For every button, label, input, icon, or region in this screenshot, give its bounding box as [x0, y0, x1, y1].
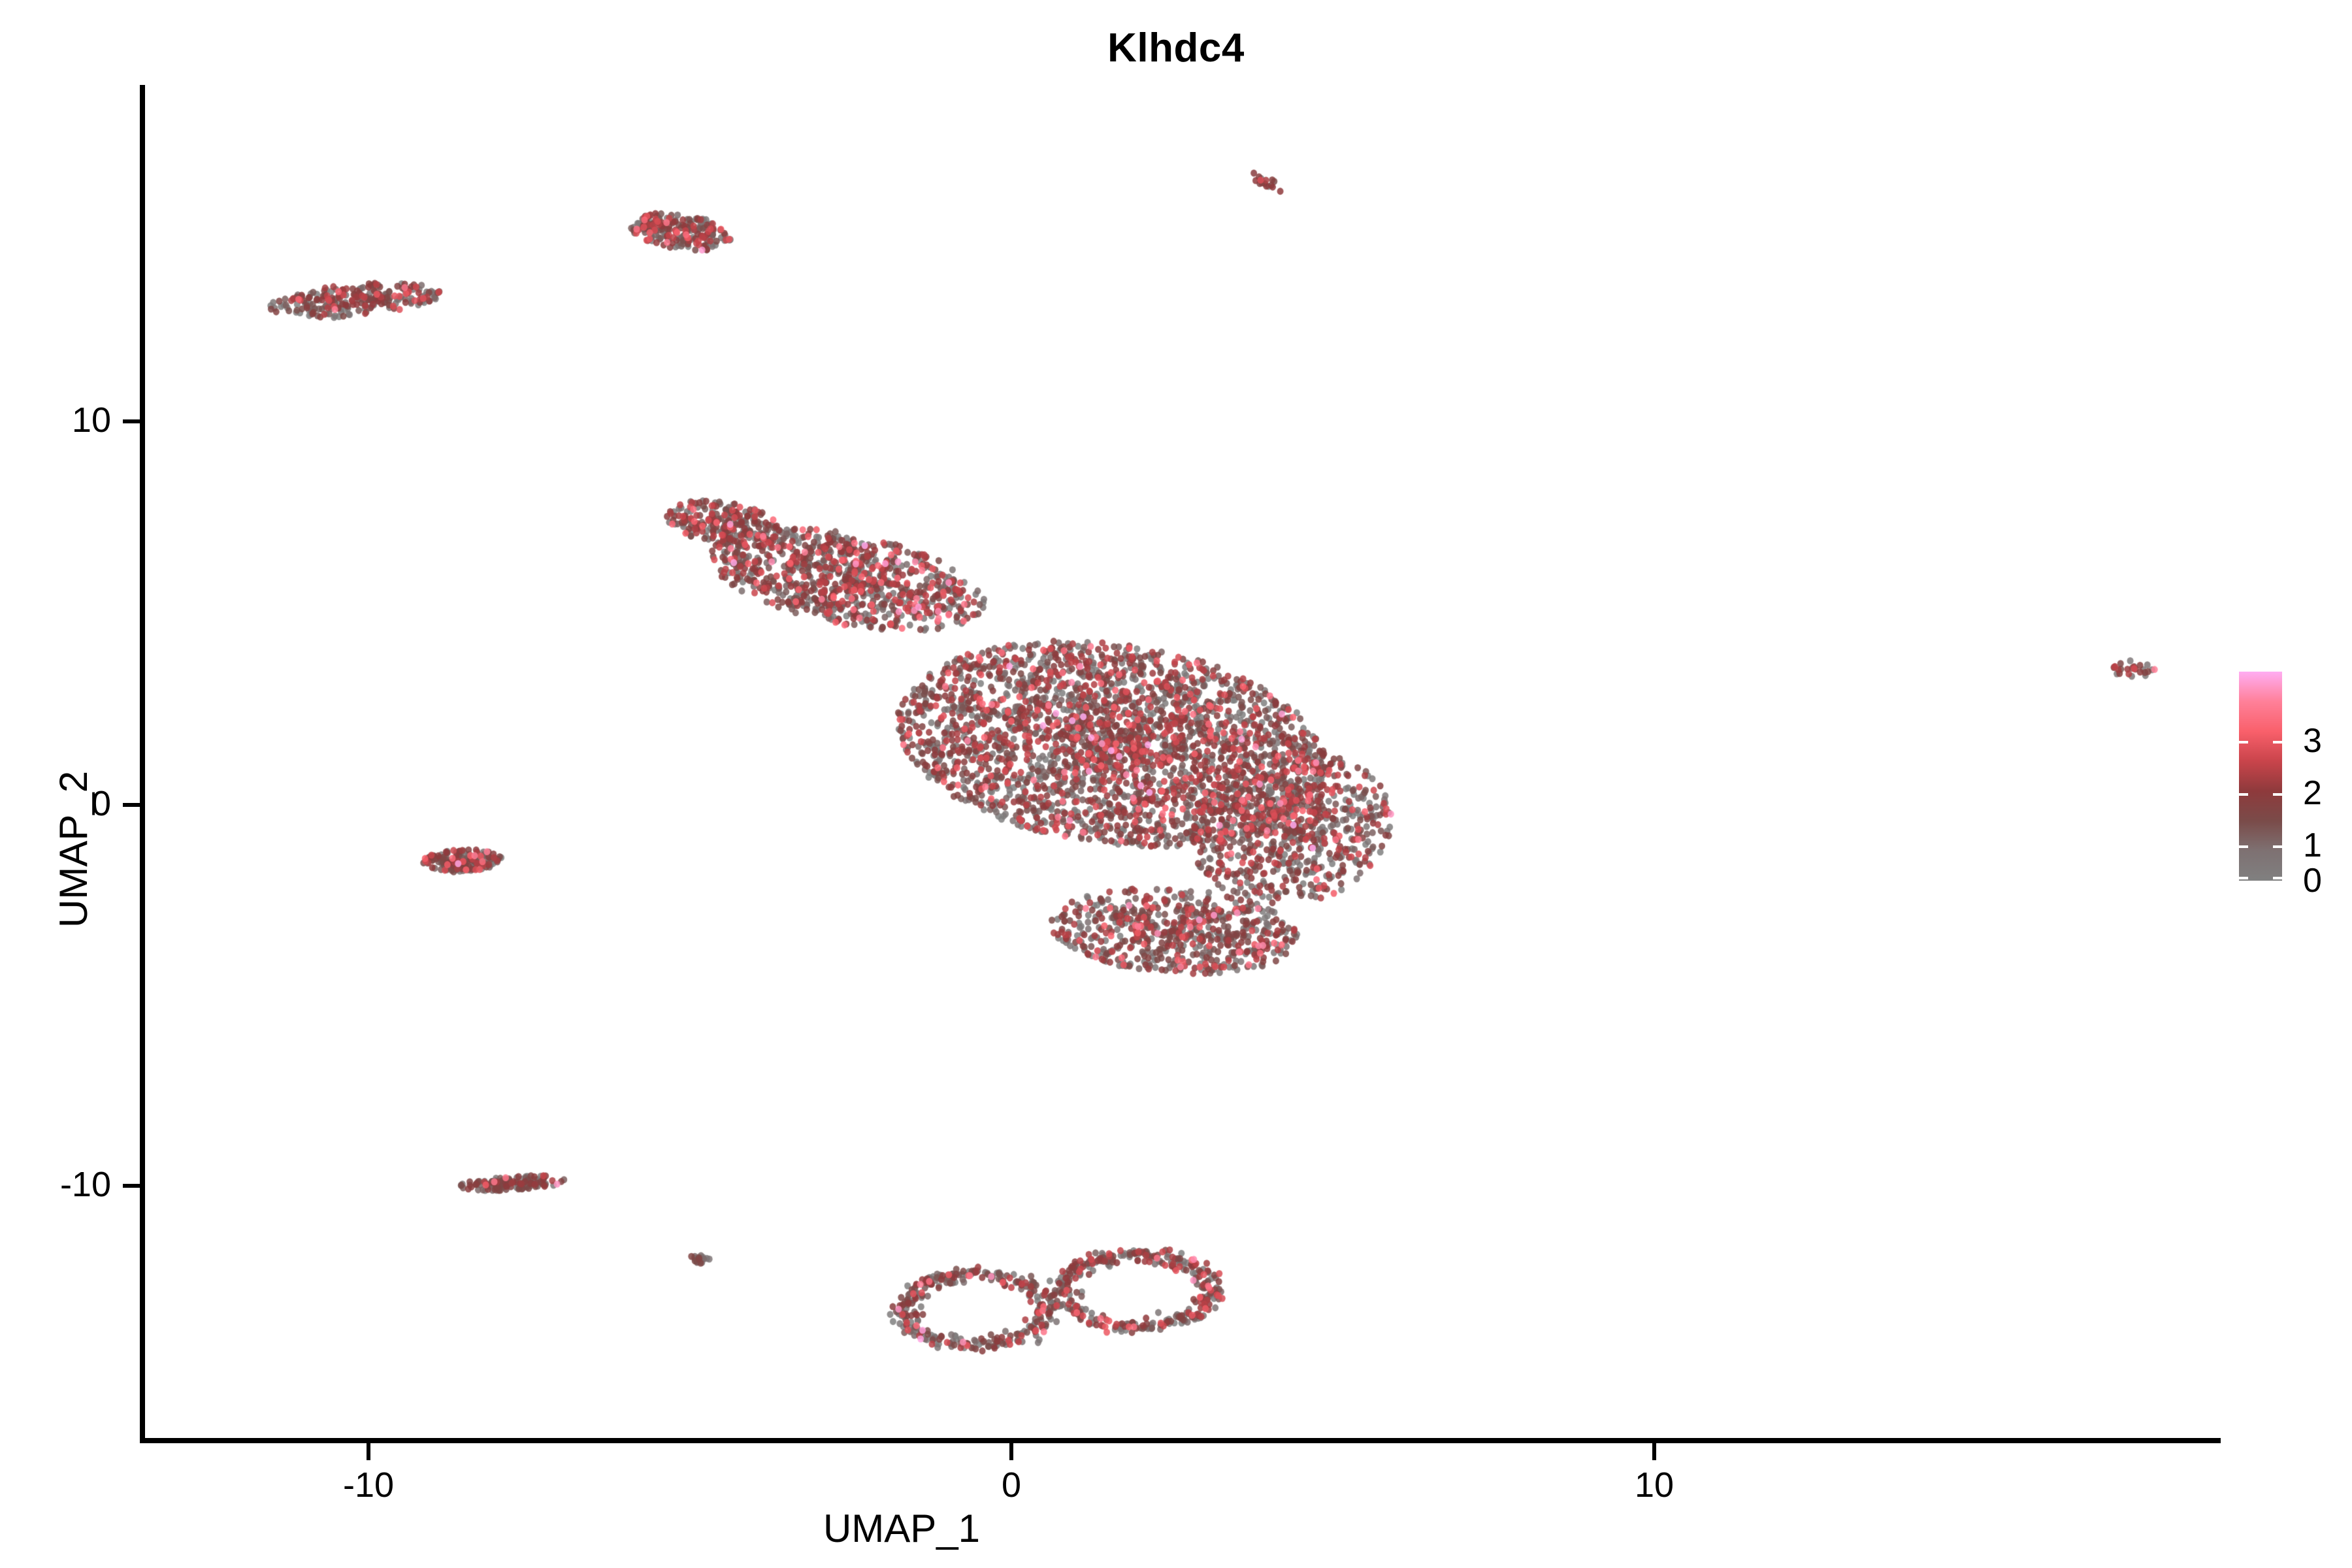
x-tick-10	[1652, 1443, 1656, 1460]
legend-tick-1-right	[2273, 845, 2282, 848]
legend-tick-0-right	[2273, 877, 2282, 879]
x-tick-0	[1009, 1443, 1013, 1460]
legend-tick-0-left	[2239, 877, 2248, 879]
y-tick-label-neg10: -10	[7, 1164, 111, 1205]
x-tick-label-0: 0	[946, 1465, 1077, 1505]
scatter-canvas	[0, 0, 2352, 1568]
legend-label-0: 0	[2303, 861, 2322, 900]
y-tick-0	[123, 803, 140, 807]
x-tick-neg10	[367, 1443, 370, 1460]
y-tick-10	[123, 419, 140, 423]
x-tick-label-neg10: -10	[303, 1465, 434, 1505]
umap-feature-plot: Klhdc4 10 0 -10 -10 0 10 UMAP_1 UMAP_2 3…	[0, 0, 2352, 1568]
legend-tick-3-left	[2239, 741, 2248, 743]
y-tick-neg10	[123, 1184, 140, 1188]
y-axis-title: UMAP_2	[51, 771, 96, 928]
legend-tick-1-left	[2239, 845, 2248, 848]
color-legend[interactable]: 3 2 1 0	[2239, 672, 2282, 881]
colorbar-gradient	[2239, 672, 2282, 881]
legend-tick-2-left	[2239, 793, 2248, 796]
legend-tick-2-right	[2273, 793, 2282, 796]
legend-tick-3-right	[2273, 741, 2282, 743]
x-tick-label-10: 10	[1589, 1465, 1720, 1505]
y-axis-line	[140, 85, 145, 1443]
x-axis-line	[140, 1438, 2221, 1443]
y-tick-label-10: 10	[7, 400, 111, 440]
legend-label-1: 1	[2303, 826, 2322, 865]
legend-label-2: 2	[2303, 774, 2322, 813]
x-axis-title: UMAP_1	[0, 1506, 1803, 1551]
legend-label-3: 3	[2303, 721, 2322, 760]
